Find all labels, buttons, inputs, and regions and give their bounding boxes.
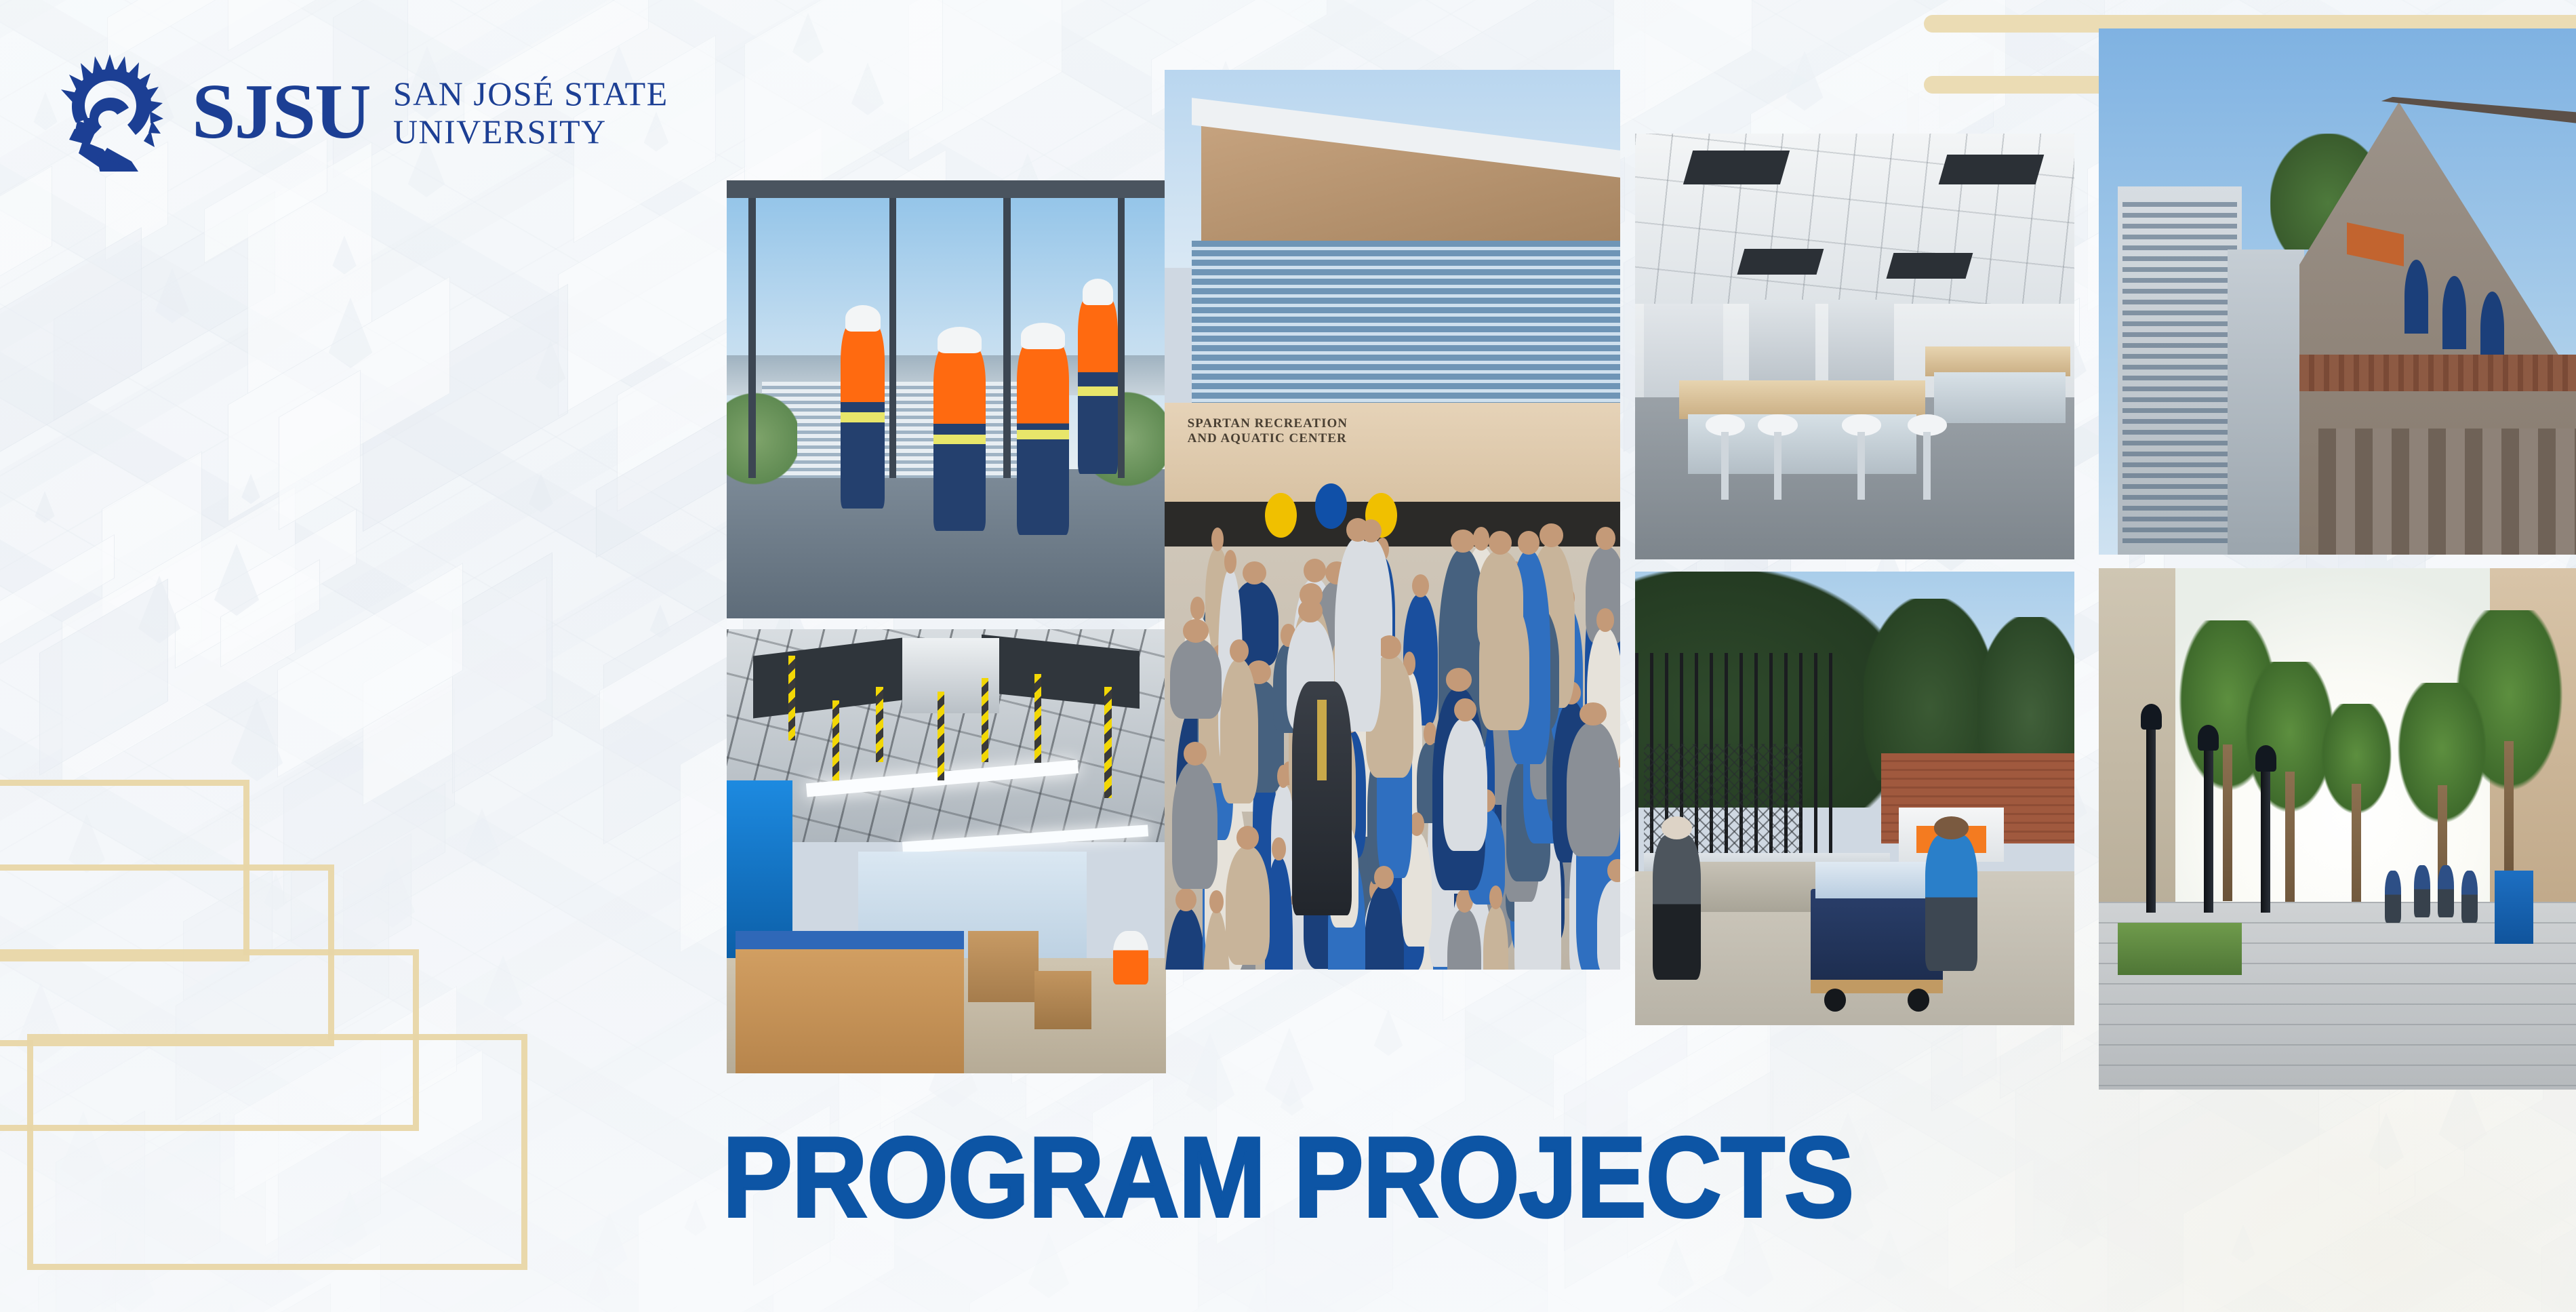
photo-student-move-in[interactable] bbox=[1635, 572, 2074, 1025]
photo-hardhat bbox=[845, 305, 881, 332]
photo-crowd-head bbox=[1579, 702, 1606, 726]
sjsu-acronym: SJSU bbox=[192, 77, 370, 147]
photo-cart-bedding bbox=[1815, 862, 1938, 898]
photo-student-head bbox=[1934, 816, 1969, 839]
photo-casework bbox=[736, 940, 964, 1074]
photo-move-in-cart bbox=[1811, 889, 1942, 989]
sjsu-spartan-helmet-logo bbox=[54, 53, 166, 172]
sjsu-name-line1: SAN JOSÉ STATE bbox=[393, 75, 668, 113]
photo-casework-top bbox=[736, 931, 964, 949]
photo-crowd-person bbox=[1477, 551, 1523, 650]
photo-crowd-person bbox=[1170, 639, 1221, 719]
photo-ceiling-light bbox=[1683, 151, 1790, 184]
photo-lamp-head bbox=[2255, 745, 2276, 771]
photo-balloon bbox=[1315, 483, 1347, 528]
photo-vest-stripe bbox=[1017, 430, 1070, 439]
photo-lamp-post bbox=[2204, 745, 2213, 912]
photo-building-curtainwall bbox=[1192, 241, 1620, 420]
photo-construction-hardhat-tour[interactable] bbox=[727, 180, 1166, 618]
photo-balloon bbox=[1265, 493, 1297, 538]
photo-lamp-head bbox=[2198, 725, 2219, 751]
photo-crowd-head bbox=[1298, 599, 1322, 623]
photo-highrise-windows bbox=[2122, 202, 2237, 549]
photo-crowd-person bbox=[1443, 718, 1487, 851]
photo-suit-tie bbox=[1317, 700, 1326, 780]
photo-crowd-head bbox=[1489, 531, 1512, 555]
photo-crowd-person bbox=[1220, 659, 1258, 803]
photo-lamp-head bbox=[2141, 704, 2162, 730]
photo-crowd-head bbox=[1230, 639, 1249, 663]
photo-crowd-head bbox=[1224, 550, 1236, 574]
photo-crowd-head bbox=[1596, 608, 1614, 632]
photo-hardhat bbox=[1021, 323, 1065, 349]
photo-cart-wheel bbox=[1824, 989, 1846, 1011]
photo-lamp-post bbox=[2146, 725, 2156, 913]
photo-student-figure bbox=[2385, 871, 2401, 923]
photo-worker-hardhat bbox=[1113, 931, 1148, 985]
photo-campus-building bbox=[762, 382, 1034, 478]
sign-line-1: SPARTAN RECREATION bbox=[1188, 416, 1348, 431]
photo-student-figure bbox=[2461, 871, 2478, 923]
photo-crowd-head bbox=[1454, 698, 1476, 722]
photo-student-figure bbox=[2438, 865, 2454, 917]
photo-window-mullion bbox=[748, 180, 755, 478]
photo-crowd-head bbox=[1211, 528, 1224, 551]
photo-crowd-head bbox=[1183, 619, 1209, 643]
photo-crowd-head bbox=[1596, 527, 1616, 551]
photo-tower-arcade bbox=[2318, 429, 2576, 555]
photo-lamp-post bbox=[2261, 766, 2270, 912]
sjsu-full-name: SAN JOSÉ STATE UNIVERSITY bbox=[393, 75, 668, 151]
photo-downtown-highrise bbox=[2228, 250, 2304, 555]
photo-student-head bbox=[1662, 816, 1692, 839]
photo-cardboard-box bbox=[1034, 971, 1091, 1029]
photo-cardboard-box bbox=[968, 931, 1039, 1002]
sjsu-name-line2: UNIVERSITY bbox=[393, 113, 607, 151]
photo-building-sign: SPARTAN RECREATIONAND AQUATIC CENTER bbox=[1188, 416, 1348, 447]
photo-caution-tape bbox=[1104, 687, 1111, 798]
photo-crowd-head bbox=[1184, 742, 1207, 766]
photo-crowd-head bbox=[1518, 531, 1539, 555]
photo-hardhat bbox=[938, 327, 982, 353]
photo-vest-stripe bbox=[1078, 386, 1117, 396]
photo-crowd-person bbox=[1567, 722, 1620, 856]
photo-tower-brick-band bbox=[2299, 355, 2576, 391]
photo-ceiling-light bbox=[1737, 249, 1823, 275]
photo-tower-hall[interactable] bbox=[2099, 28, 2576, 555]
photo-window-header bbox=[727, 180, 1166, 198]
photo-vest-stripe bbox=[841, 412, 885, 422]
sjsu-wordmark: SJSU SAN JOSÉ STATE UNIVERSITY bbox=[192, 75, 668, 151]
photo-caution-tape bbox=[982, 678, 988, 762]
photo-cart-wheel bbox=[1908, 989, 1929, 1011]
photo-lab-bench-base bbox=[1934, 372, 2066, 423]
photo-student-figure bbox=[2414, 865, 2430, 917]
photo-caution-tape bbox=[788, 656, 795, 740]
photo-ceiling-light bbox=[1886, 253, 1972, 279]
photo-trees bbox=[727, 391, 797, 487]
photo-tower-arched-window bbox=[2442, 276, 2466, 350]
photo-crowd-head bbox=[1346, 518, 1369, 542]
photo-crowd-head bbox=[1539, 523, 1563, 547]
photo-crowd-head bbox=[1473, 527, 1489, 551]
photo-fume-hood bbox=[1828, 300, 1894, 389]
photo-tower-arched-window bbox=[2404, 260, 2428, 334]
photo-window-mullion bbox=[889, 180, 896, 478]
photo-crowd-person bbox=[1172, 761, 1217, 889]
photo-crowd-head bbox=[1236, 826, 1258, 850]
photo-hardhat bbox=[1083, 279, 1113, 305]
poster-canvas: SJSU SAN JOSÉ STATE UNIVERSITY SPARTAN R… bbox=[0, 0, 2576, 1312]
photo-crowd-head bbox=[1304, 559, 1326, 582]
photo-crowd-head bbox=[1190, 597, 1205, 620]
photo-vest-stripe bbox=[933, 435, 986, 444]
sjsu-logo[interactable]: SJSU SAN JOSÉ STATE UNIVERSITY bbox=[54, 53, 668, 172]
photo-lawn bbox=[2118, 923, 2242, 975]
photo-crowd-head bbox=[1412, 574, 1429, 598]
photo-crowd-head bbox=[1446, 668, 1472, 692]
photo-caution-tape bbox=[876, 687, 883, 762]
photo-lab-stool-legs bbox=[1712, 432, 1738, 500]
photo-renovated-science-lab[interactable] bbox=[1635, 134, 2074, 559]
photo-student-walking bbox=[1653, 835, 1701, 980]
photo-student-pushing-cart bbox=[1925, 835, 1978, 971]
photo-window-mullion bbox=[1118, 180, 1125, 478]
photo-crowd-head bbox=[1489, 886, 1502, 909]
photo-lab-under-construction[interactable] bbox=[727, 629, 1166, 1073]
sign-line-2: AND AQUATIC CENTER bbox=[1188, 431, 1347, 445]
page-title: PROGRAM PROJECTS bbox=[103, 1112, 2473, 1243]
photo-blue-kiosk bbox=[2495, 871, 2533, 944]
photo-caution-tape bbox=[938, 692, 944, 780]
photo-lab-bench bbox=[1679, 380, 1925, 419]
photo-crowd-head bbox=[1209, 890, 1224, 914]
photo-ceiling-light bbox=[1938, 155, 2043, 184]
photo-lab-stool-legs bbox=[1848, 432, 1874, 500]
photo-caution-tape bbox=[832, 700, 839, 780]
photo-lab-stool-legs bbox=[1914, 432, 1940, 500]
photo-crowd-person bbox=[1226, 846, 1270, 965]
photo-palm-lined-paseo[interactable] bbox=[2099, 568, 2576, 1090]
photo-fume-hood bbox=[1749, 300, 1815, 389]
photo-crowd-head bbox=[1272, 837, 1285, 861]
photo-window-mullion bbox=[1003, 180, 1010, 478]
photo-spartan-recreation-aquatic-center[interactable]: SPARTAN RECREATIONAND AQUATIC CENTER bbox=[1165, 70, 1620, 970]
photo-caution-tape bbox=[1034, 674, 1041, 763]
photo-lab-stool-legs bbox=[1765, 432, 1791, 500]
photo-palm-trunk bbox=[2223, 744, 2232, 901]
photo-crowd-head bbox=[1377, 635, 1401, 659]
